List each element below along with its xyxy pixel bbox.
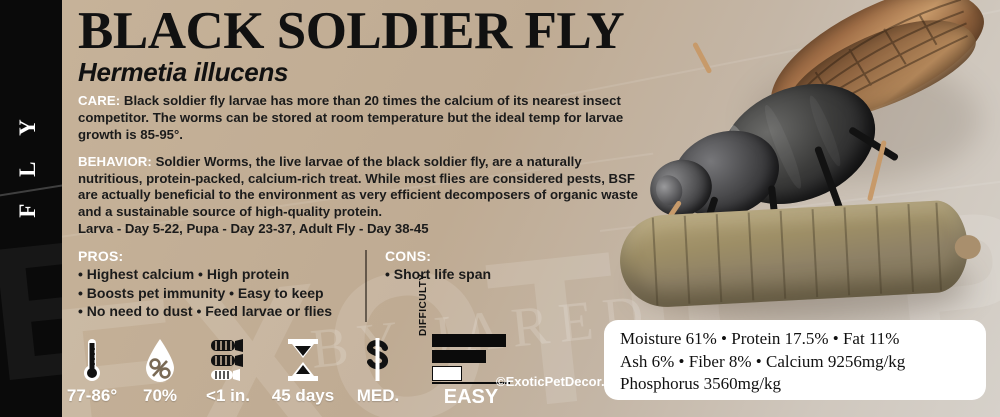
humidity-drop-icon (126, 337, 194, 383)
pros-item: • Highest calcium • High protein (78, 265, 363, 283)
icon-cost: MED. (344, 337, 412, 406)
temperature-value: 77-86° (58, 386, 126, 406)
pros-cons-divider (365, 250, 367, 322)
pros-item: • Boosts pet immunity • Easy to keep (78, 284, 363, 302)
icon-lifespan: 45 days (262, 337, 344, 406)
behavior-label: BEHAVIOR: (78, 154, 152, 169)
difficulty-axis-label: DIFFICULTY (418, 290, 429, 336)
larva-photo (617, 191, 977, 321)
lifecycle-text: Larva - Day 5-22, Pupa - Day 23-37, Adul… (78, 221, 658, 238)
behavior-text: Soldier Worms, the live larvae of the bl… (78, 154, 638, 219)
product-label: EXOTIC PET DECOR BY JARED (0, 0, 1000, 417)
nutrition-panel: Moisture 61% • Protein 17.5% • Fat 11% A… (604, 320, 986, 400)
pros-heading: PROS: (78, 248, 363, 264)
icon-temperature: 77-86° (58, 337, 126, 406)
icon-row: 77-86° 70% (58, 330, 512, 406)
pros-column: PROS: • Highest calcium • High protein •… (78, 248, 363, 320)
sidebar-vertical-label: F L Y (15, 83, 41, 243)
cost-value: MED. (344, 386, 412, 406)
copyright-text: ©ExoticPetDecor. (496, 374, 605, 389)
pros-cons-section: PROS: • Highest calcium • High protein •… (78, 248, 658, 320)
scientific-name: Hermetia illucens (78, 59, 658, 85)
humidity-value: 70% (126, 386, 194, 406)
difficulty-meter: DIFFICULTY EASY (416, 330, 512, 406)
difficulty-bar (432, 334, 506, 347)
nutrition-line: Moisture 61% • Protein 17.5% • Fat 11% (620, 328, 970, 351)
dollar-cost-icon (344, 337, 412, 383)
lifespan-value: 45 days (262, 386, 344, 406)
care-label: CARE: (78, 93, 120, 108)
pros-item: • No need to dust • Feed larvae or flies (78, 302, 363, 320)
cons-heading: CONS: (385, 248, 491, 264)
hourglass-lifespan-icon (262, 337, 344, 383)
care-text: Black soldier fly larvae has more than 2… (78, 93, 623, 141)
page-title: BLACK SOLDIER FLY (78, 6, 658, 56)
cons-item: • Short life span (385, 265, 491, 283)
difficulty-selected-label: EASY (430, 386, 512, 409)
size-value: <1 in. (194, 386, 262, 406)
behavior-paragraph: BEHAVIOR: Soldier Worms, the live larvae… (78, 154, 643, 221)
icon-size: <1 in. (194, 337, 262, 406)
thermometer-icon (58, 337, 126, 383)
specimen-photo (600, 0, 1000, 340)
care-paragraph: CARE: Black soldier fly larvae has more … (78, 93, 643, 143)
nutrition-line: Ash 6% • Fiber 8% • Calcium 9256mg/kg (620, 351, 970, 374)
nutrition-line: Phosphorus 3560mg/kg (620, 373, 970, 396)
larvae-size-icon (194, 337, 262, 383)
icon-humidity: 70% (126, 337, 194, 406)
difficulty-bar (432, 350, 486, 363)
fly-antenna (692, 42, 712, 74)
difficulty-bar-selected (432, 366, 462, 381)
